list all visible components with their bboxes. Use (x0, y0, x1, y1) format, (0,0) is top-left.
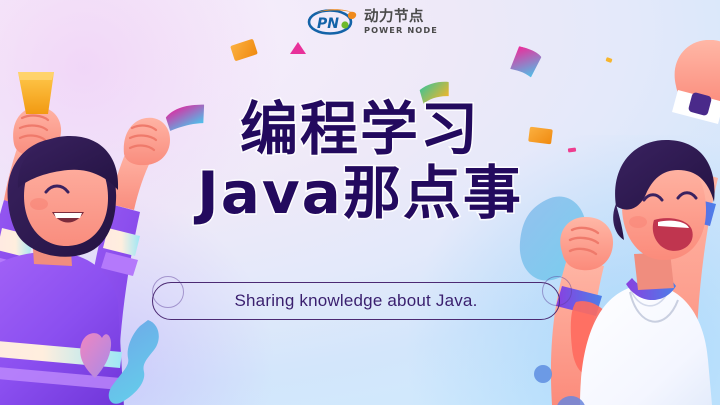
page-title: 编程学习 Java那点事 (0, 100, 720, 224)
confetti-pink-blue-left (164, 103, 207, 132)
background-wash-top-left (0, 0, 300, 260)
confetti-orange-right (528, 127, 553, 145)
blob-blue-swirl (108, 318, 162, 404)
subtitle-text: Sharing knowledge about Java. (234, 291, 477, 311)
logo-chinese-name: 动力节点 (364, 10, 438, 25)
logo-english-name: POWER NODE (364, 26, 438, 34)
promo-banner: PN 动力节点 POWER NODE 编程学习 Java那点事 Sharing … (0, 0, 720, 405)
blob-pink-heart (78, 330, 112, 378)
character-left-celebrating (0, 52, 214, 405)
confetti-pink-small-right (568, 147, 576, 152)
confetti-yellow-tiny (605, 57, 612, 63)
pn-oval-emblem-icon: PN (306, 8, 358, 36)
confetti-green-yellow (419, 80, 451, 104)
subtitle-pill: Sharing knowledge about Java. (152, 282, 560, 320)
confetti-magenta-triangle (290, 42, 306, 54)
dot-blue-small (534, 365, 552, 383)
headline-line-2: Java那点事 (0, 163, 720, 224)
svg-text:PN: PN (317, 16, 339, 32)
background-wash-bottom-right (380, 135, 720, 405)
brand-logo[interactable]: PN 动力节点 POWER NODE (306, 8, 438, 36)
confetti-pink-cyan-top (509, 45, 542, 78)
character-right-cheering (518, 40, 720, 405)
dot-blue-large (556, 396, 586, 405)
confetti-orange-top (230, 39, 258, 62)
headline-line-1: 编程学习 (0, 100, 720, 159)
